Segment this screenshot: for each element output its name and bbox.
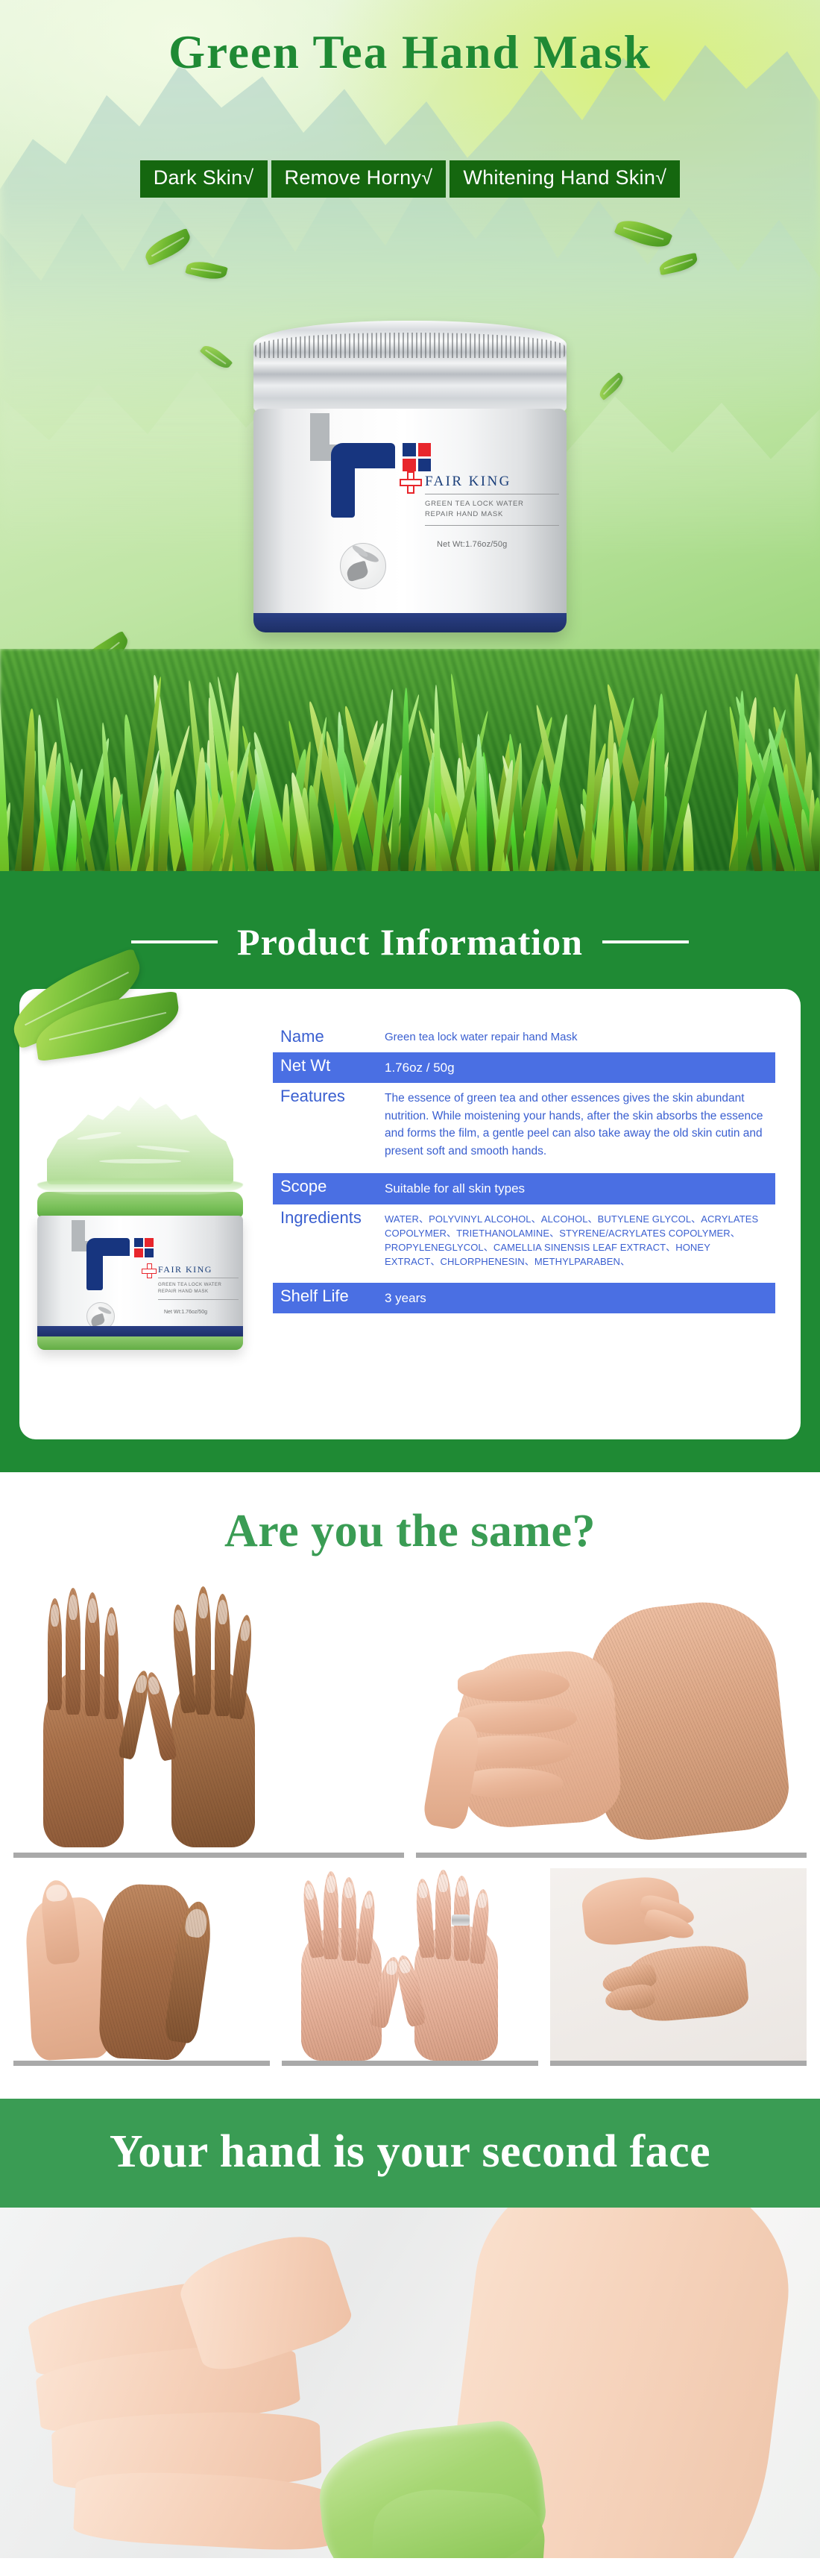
green-gel-mound: [47, 1095, 233, 1184]
spec-value: 3 years: [385, 1283, 775, 1314]
spec-row-features: Features The essence of green tea and ot…: [273, 1083, 775, 1166]
hand-emblem-icon: [340, 543, 386, 589]
comparison-photo-row-1: [0, 1582, 820, 1868]
spec-value: WATER、POLYVINYL ALCOHOL、ALCOHOL、BUTYLENE…: [385, 1204, 775, 1275]
photo-young-and-aged-hand-side: [550, 1868, 807, 2066]
ring-icon: [452, 1914, 470, 1926]
spec-row-scope: Scope Suitable for all skin types: [273, 1173, 775, 1204]
brand-logo-checker: [403, 443, 431, 471]
brand-logo-mark: [331, 443, 395, 518]
hero-title: Green Tea Hand Mask: [0, 25, 820, 80]
checker-square-red: [145, 1238, 154, 1247]
product-jar-thumbnail: FAIR KING GREEN TEA LOCK WATER REPAIR HA…: [37, 1095, 243, 1350]
jar-subtitle-line2: REPAIR HAND MASK: [425, 509, 559, 520]
spec-label: Shelf Life: [273, 1283, 385, 1310]
benefit-badge-whitening-hand-skin[interactable]: Whitening Hand Skin√: [450, 160, 680, 198]
heading-dash-right: [602, 940, 689, 943]
jar-body: FAIR KING GREEN TEA LOCK WATER REPAIR HA…: [253, 409, 567, 632]
jar-lid: [253, 321, 567, 413]
tea-shoots: [0, 649, 820, 873]
red-cross-icon: [400, 471, 422, 494]
checker-square-blue: [403, 443, 416, 456]
jar-subtitle-line2: REPAIR HAND MASK: [158, 1288, 239, 1295]
checker-square-red: [134, 1248, 143, 1257]
photo-base-shadow: [416, 1853, 807, 1858]
jar-label-text: FAIR KING GREEN TEA LOCK WATER REPAIR HA…: [158, 1265, 239, 1303]
jar-net-weight: Net Wt:1.76oz/50g: [437, 540, 508, 549]
photo-young-vs-aged-hand-palms: [13, 1868, 270, 2066]
jar-net-weight: Net Wt:1.76oz/50g: [164, 1310, 207, 1315]
jar-lid-knurling: [255, 333, 565, 358]
photo-base-shadow: [282, 2061, 538, 2066]
divider: [425, 494, 559, 494]
jar-rim-green: [37, 1192, 243, 1217]
checker-square-blue: [134, 1238, 143, 1247]
brand-logo-mark: [86, 1238, 130, 1290]
divider: [425, 525, 559, 526]
benefit-badge-dark-skin[interactable]: Dark Skin√: [140, 160, 268, 198]
closing-heading: Your hand is your second face: [0, 2129, 820, 2175]
photo-aged-hands-backs-pair: [13, 1582, 404, 1858]
spec-label: Net Wt: [273, 1052, 385, 1080]
product-information-section: Product Information: [0, 889, 820, 1472]
checker-square-red: [418, 443, 432, 456]
spec-table: Name Green tea lock water repair hand Ma…: [273, 1016, 775, 1414]
divider: [158, 1278, 239, 1278]
spec-row-shelf-life: Shelf Life 3 years: [273, 1283, 775, 1314]
benefit-badge-group: Dark Skin√ Remove Horny√ Whitening Hand …: [0, 160, 820, 198]
product-listing-page: Green Tea Hand Mask Dark Skin√ Remove Ho…: [0, 0, 820, 2558]
jar-body: FAIR KING GREEN TEA LOCK WATER REPAIR HA…: [37, 1216, 243, 1350]
spec-value: The essence of green tea and other essen…: [385, 1083, 775, 1166]
gel-overflow: [37, 1178, 243, 1195]
hero-banner: Green Tea Hand Mask Dark Skin√ Remove Ho…: [0, 0, 820, 889]
photo-base-shadow: [13, 2061, 270, 2066]
spec-label: Ingredients: [273, 1204, 385, 1232]
photo-aged-hands-with-ring: [282, 1868, 538, 2066]
photo-base-shadow: [550, 2061, 807, 2066]
heading-dash-left: [131, 940, 218, 943]
photo-aged-hand-clasped-pair: [416, 1582, 807, 1858]
closing-banner: Your hand is your second face: [0, 2099, 820, 2208]
spec-value: Suitable for all skin types: [385, 1173, 775, 1204]
product-jar-hero: FAIR KING GREEN TEA LOCK WATER REPAIR HA…: [253, 321, 567, 632]
benefit-badge-remove-horny[interactable]: Remove Horny√: [271, 160, 447, 198]
product-information-heading-text: Product Information: [237, 920, 583, 964]
spec-row-ingredients: Ingredients WATER、POLYVINYL ALCOHOL、ALCO…: [273, 1204, 775, 1275]
spec-label: Scope: [273, 1173, 385, 1201]
checker-square-blue: [145, 1248, 154, 1257]
spec-value: 1.76oz / 50g: [385, 1052, 775, 1084]
hero-bottom-strip: [0, 871, 820, 889]
checker-square-blue: [418, 459, 432, 472]
jar-brand-name: FAIR KING: [158, 1265, 239, 1274]
tea-field-foreground: [0, 649, 820, 873]
jar-brand-name: FAIR KING: [425, 474, 559, 489]
spec-row-name: Name Green tea lock water repair hand Ma…: [273, 1023, 775, 1052]
product-information-card: FAIR KING GREEN TEA LOCK WATER REPAIR HA…: [19, 989, 801, 1439]
spec-value: Green tea lock water repair hand Mask: [385, 1023, 775, 1052]
divider: [158, 1299, 239, 1300]
comparison-photo-row-2: [0, 1868, 820, 2099]
jar-subtitle-line1: GREEN TEA LOCK WATER: [158, 1281, 239, 1288]
spec-label: Features: [273, 1083, 385, 1110]
spec-row-net-wt: Net Wt 1.76oz / 50g: [273, 1052, 775, 1084]
brand-logo-checker: [134, 1238, 154, 1257]
photo-hand-peeling-green-gel-mask: [0, 2208, 820, 2558]
photo-base-shadow: [13, 1853, 404, 1858]
red-cross-icon: [142, 1263, 157, 1278]
spec-label: Name: [273, 1023, 385, 1051]
product-image-column: FAIR KING GREEN TEA LOCK WATER REPAIR HA…: [19, 1016, 273, 1414]
hand-emblem-icon: [86, 1302, 115, 1331]
checker-square-red: [403, 459, 416, 472]
jar-subtitle-line1: GREEN TEA LOCK WATER: [425, 499, 559, 509]
comparison-heading: Are you the same?: [0, 1505, 820, 1558]
comparison-section: Are you the same?: [0, 1472, 820, 2099]
jar-label-text: FAIR KING GREEN TEA LOCK WATER REPAIR HA…: [425, 474, 559, 530]
